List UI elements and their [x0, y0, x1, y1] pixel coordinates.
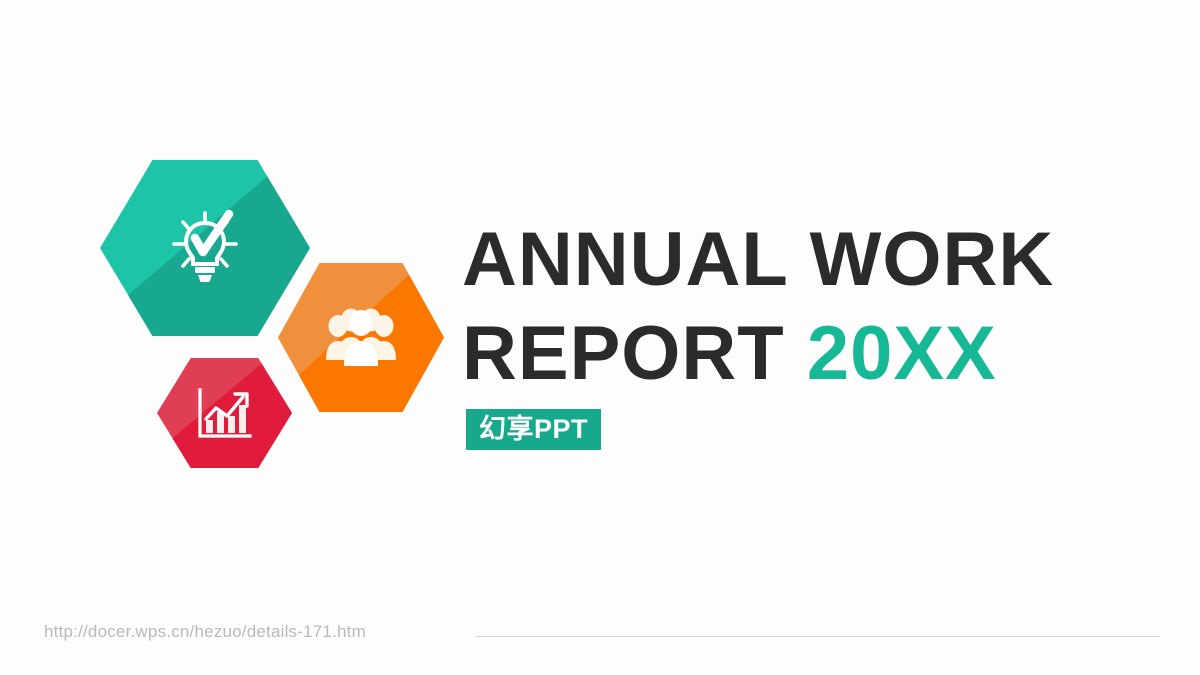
hexagon-growth[interactable] — [157, 358, 292, 468]
page-title-year: 20XX — [807, 311, 997, 396]
title-block: ANNUAL WORK REPORT 20XX — [462, 222, 1122, 392]
hexagon-cluster — [0, 0, 470, 500]
brand-badge[interactable]: 幻享PPT — [466, 409, 601, 450]
footer: http://docer.wps.cn/hezuo/details-171.ht… — [0, 622, 1200, 656]
source-url-link[interactable]: http://docer.wps.cn/hezuo/details-171.ht… — [44, 622, 366, 642]
page-title-line-1: ANNUAL WORK — [462, 222, 1122, 298]
page-title-line-2: REPORT 20XX — [462, 316, 1122, 392]
page-title-main: REPORT — [462, 311, 807, 396]
footer-divider — [476, 636, 1160, 637]
hexagon-team[interactable] — [278, 263, 444, 412]
slide-canvas: ANNUAL WORK REPORT 20XX 幻享PPT http://doc… — [0, 0, 1200, 675]
